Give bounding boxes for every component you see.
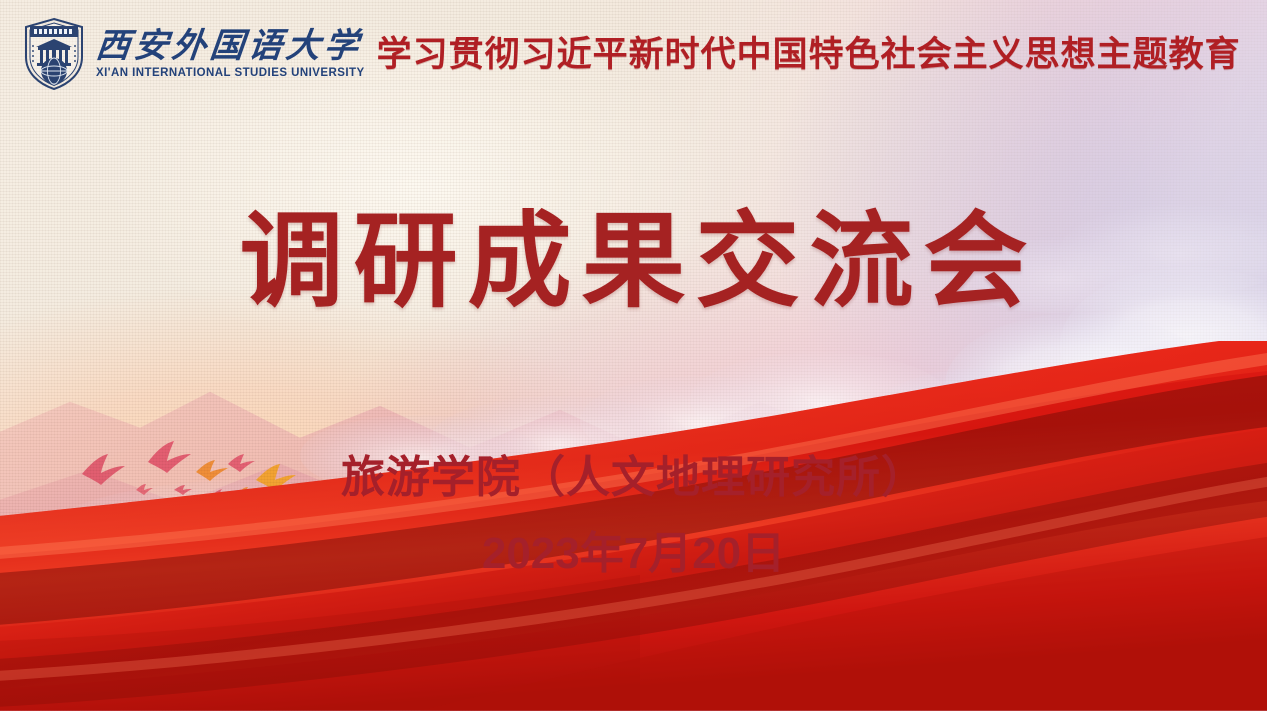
university-name-cn: 西安外国语大学 [94, 29, 366, 64]
campaign-slogan: 学习贯彻习近平新时代中国特色社会主义思想主题教育 [377, 37, 1241, 72]
university-name-en: XI'AN INTERNATIONAL STUDIES UNIVERSITY [96, 67, 365, 79]
page-title: 调研成果交流会 [0, 206, 1267, 316]
slide-header: 西安外国语大学 XI'AN INTERNATIONAL STUDIES UNIV… [0, 0, 1267, 108]
organizer-name: 旅游学院（人文地理研究所） [0, 452, 1267, 504]
university-name-block: 西安外国语大学 XI'AN INTERNATIONAL STUDIES UNIV… [96, 29, 365, 79]
university-shield-emblem-icon [22, 17, 86, 91]
event-date: 2023年7月20日 [0, 528, 1267, 580]
presentation-slide: 西安外国语大学 XI'AN INTERNATIONAL STUDIES UNIV… [0, 0, 1267, 711]
slide-subtitle-block: 旅游学院（人文地理研究所） 2023年7月20日 [0, 452, 1267, 580]
